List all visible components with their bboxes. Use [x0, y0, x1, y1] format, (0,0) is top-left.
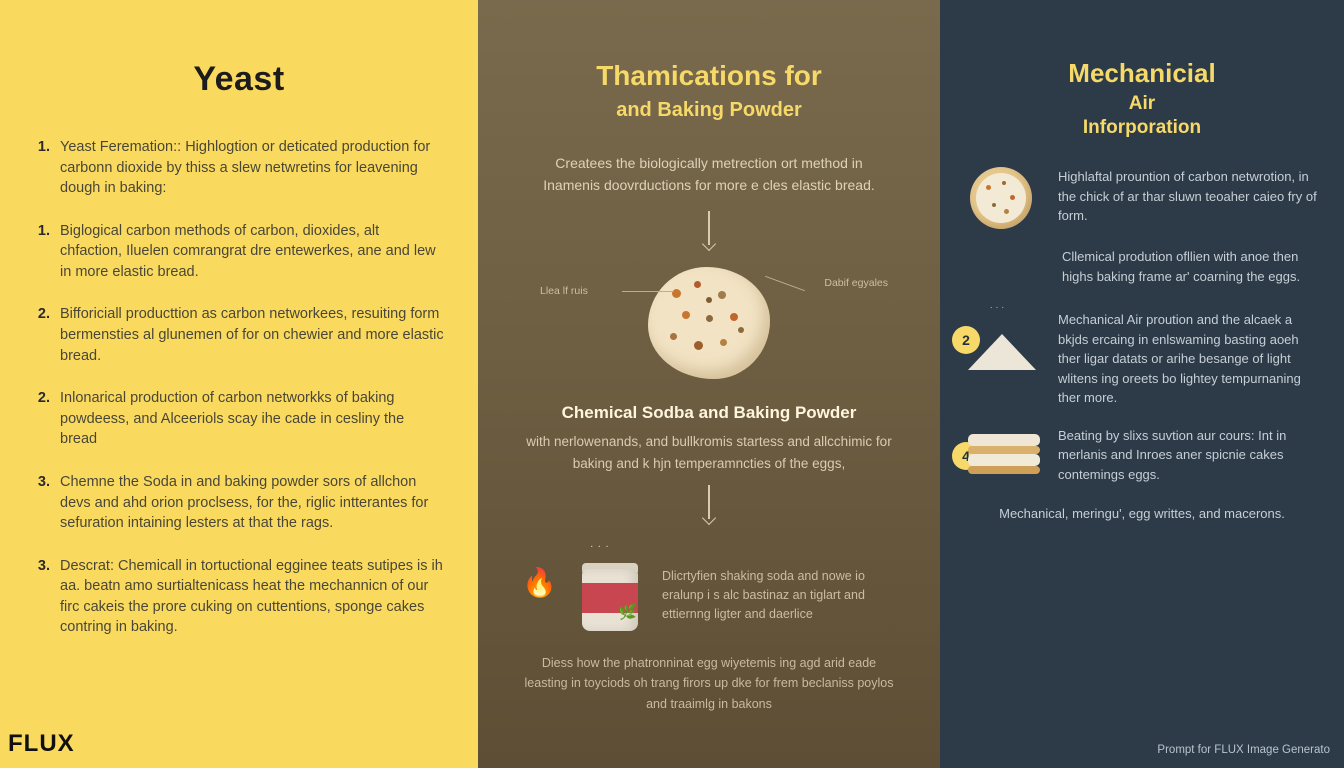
- arrow-down-icon: [703, 211, 715, 253]
- dough-bubble: [694, 341, 703, 350]
- dough-bubble: [730, 313, 738, 321]
- mechanical-row-3-text: Beating by slixs suvtion aur cours: Int …: [1058, 424, 1318, 485]
- leader-line: [622, 291, 674, 292]
- cookie-icon: [966, 165, 1044, 231]
- chemical-can-row: 🔥 ˙˙˙ 🌿 Dlicrtyfien shaking soda and now…: [522, 543, 896, 635]
- mechanical-row-1-text: Highlaftal prountion of carbon netwrotio…: [1058, 165, 1318, 226]
- dough-bubble: [718, 291, 726, 299]
- dough-bubble: [738, 327, 744, 333]
- leader-line: [765, 276, 805, 291]
- yeast-title: Yeast: [34, 60, 444, 99]
- baking-soda-can-icon: ˙˙˙ 🌿: [566, 543, 652, 635]
- sugar-pile-icon: 2 ˙˙˙: [966, 308, 1044, 374]
- mechanical-subtitle-2: Inforporation: [966, 117, 1318, 139]
- mechanical-title: Mechanicial: [966, 58, 1318, 89]
- list-item: 2. Inlonarical production of carbon netw…: [34, 388, 444, 450]
- dough-diagram: Llea lf ruis Dabif egyales: [522, 259, 896, 387]
- cake-stack: [968, 434, 1040, 480]
- leaf-icon: 🌿: [618, 605, 634, 621]
- flux-logo: FLUX: [8, 730, 75, 758]
- list-item: 3. Chemne the Soda in and baking powder …: [34, 472, 444, 534]
- column-mechanical: Mechanicial Air Inforporation Highlaftal…: [940, 0, 1344, 768]
- prompt-note: Prompt for FLUX Image Generato: [1157, 744, 1330, 756]
- mechanical-subtitle: Air: [966, 93, 1318, 115]
- sugar-pile-shape: [968, 334, 1036, 370]
- column-yeast: Yeast 1. Yeast Feremation:: Highlogtion …: [0, 0, 478, 768]
- list-item: 1. Biglogical carbon methods of carbon, …: [34, 221, 444, 283]
- dough-ball-icon: [648, 267, 770, 379]
- chemical-section-title: Chemical Sodba and Baking Powder: [522, 403, 896, 423]
- diagram-label-right: Dabif egyales: [824, 277, 888, 289]
- dough-bubble: [670, 333, 677, 340]
- list-item-number: 2.: [34, 304, 60, 366]
- list-item-text: Inlonarical production of carbon network…: [60, 388, 444, 450]
- list-item-text: Bifforiciall producttion as carbon netwo…: [60, 304, 444, 366]
- chemical-section-body: with nerlowenands, and bullkromis starte…: [524, 431, 894, 475]
- mechanical-row-2-text: Mechanical Air proution and the alcaek a…: [1058, 308, 1318, 408]
- dough-bubble: [706, 315, 713, 322]
- dough-bubble: [706, 297, 712, 303]
- dough-bubble: [694, 281, 701, 288]
- list-item-text: Biglogical carbon methods of carbon, dio…: [60, 221, 444, 283]
- dough-bubble: [720, 339, 727, 346]
- layer-cake-icon: 4: [966, 424, 1044, 490]
- arrow-down-icon-2: [703, 485, 715, 527]
- list-item-number: 3.: [34, 556, 60, 638]
- mechanical-row-1: Highlaftal prountion of carbon netwrotio…: [966, 165, 1318, 231]
- column-chemical: Thamications for and Baking Powder Creat…: [478, 0, 940, 768]
- mechanical-footer-text: Mechanical, meringu', egg writtes, and m…: [966, 506, 1318, 521]
- list-item-text: Yeast Feremation:: Highlogtion or detica…: [60, 137, 444, 199]
- list-item-number: 2.: [34, 388, 60, 450]
- chemical-footer-text: Diess how the phatronninat egg wiyetemis…: [522, 653, 896, 715]
- mechanical-row-2: 2 ˙˙˙ Mechanical Air proution and the al…: [966, 308, 1318, 408]
- sugar-sprinkle-icon: ˙˙˙: [990, 306, 1007, 318]
- infographic-poster: Yeast 1. Yeast Feremation:: Highlogtion …: [0, 0, 1344, 768]
- steam-icon: ˙˙˙: [590, 543, 613, 559]
- chemical-lead-text: Createes the biologically metrection ort…: [526, 152, 892, 197]
- list-item: 2. Bifforiciall producttion as carbon ne…: [34, 304, 444, 366]
- list-item: 1. Yeast Feremation:: Highlogtion or det…: [34, 137, 444, 199]
- diagram-label-left: Llea lf ruis: [540, 285, 588, 297]
- cookie-inner: [976, 173, 1026, 223]
- list-item-text: Chemne the Soda in and baking powder sor…: [60, 472, 444, 534]
- chemical-title: Thamications for: [522, 58, 896, 93]
- list-item-number: 3.: [34, 472, 60, 534]
- chemical-subtitle: and Baking Powder: [522, 99, 896, 122]
- list-item-number: 1.: [34, 221, 60, 283]
- dough-bubble: [682, 311, 690, 319]
- list-item: 3. Descrat: Chemicall in tortuctional eg…: [34, 556, 444, 638]
- chemical-can-note: Dlicrtyfien shaking soda and nowe io era…: [662, 543, 896, 625]
- list-item-number: 1.: [34, 137, 60, 199]
- flame-icon: 🔥: [522, 569, 556, 597]
- list-item-text: Descrat: Chemicall in tortuctional eggin…: [60, 556, 444, 638]
- mechanical-note: Cllemical prodution ofllien with anoe th…: [1062, 247, 1318, 286]
- mechanical-row-3: 4 Beating by slixs suvtion aur cours: In…: [966, 424, 1318, 490]
